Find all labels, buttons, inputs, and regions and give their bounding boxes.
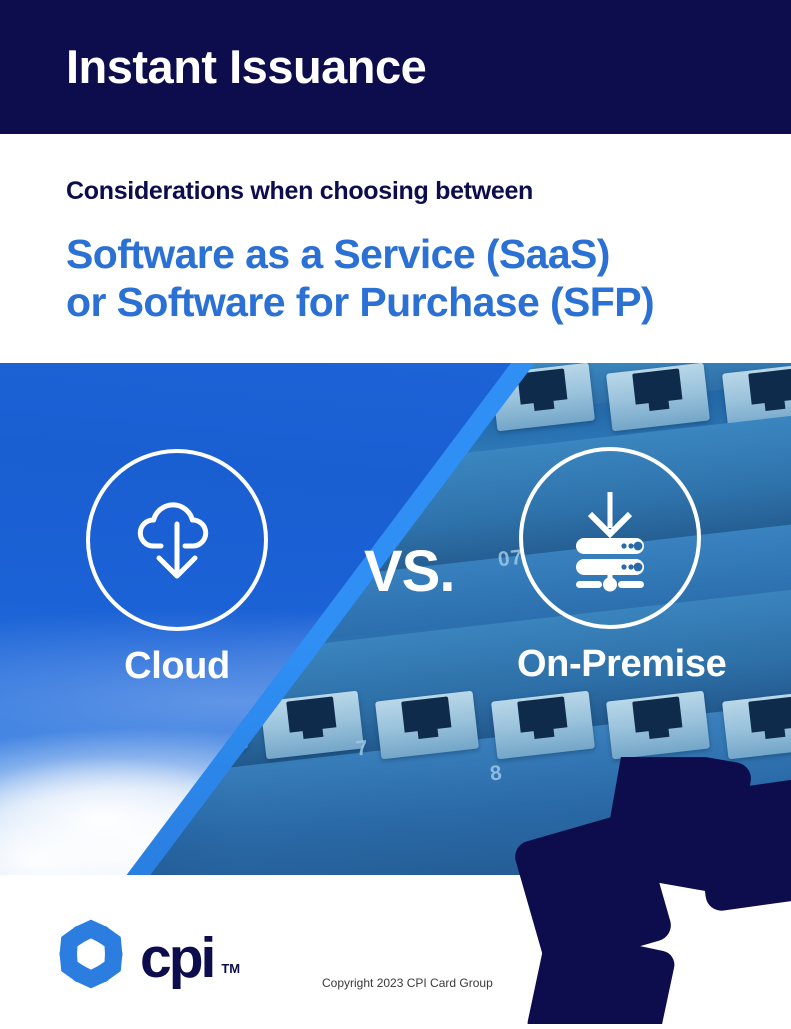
port-number-label: 7: [355, 736, 370, 761]
cpi-logo: cpi TM: [52, 915, 242, 993]
cloud-download-icon: [121, 484, 233, 596]
option-onpremise-caption: On-Premise: [517, 643, 701, 686]
option-cloud: Cloud: [86, 449, 268, 688]
title-block: Considerations when choosing between Sof…: [0, 134, 791, 363]
header-bar: Instant Issuance: [0, 0, 791, 134]
cpi-wordmark: cpi: [140, 930, 213, 987]
footer: cpi TM: [0, 875, 791, 1024]
versus-label: VS.: [364, 538, 455, 605]
trademark-symbol: TM: [221, 961, 240, 976]
subtitle-kicker: Considerations when choosing between: [66, 177, 533, 206]
option-onpremise: On-Premise: [519, 447, 701, 686]
copyright-text: Copyright 2023 CPI Card Group: [322, 976, 493, 990]
rj45-port-icon: [491, 690, 595, 759]
rj45-port-icon: [722, 690, 791, 759]
cloud-badge-ring: [86, 449, 268, 631]
rj45-port-icon: [375, 690, 479, 759]
rj45-port-icon: [606, 363, 710, 431]
server-download-icon: [552, 480, 668, 596]
page-title: Instant Issuance: [66, 43, 426, 90]
option-cloud-caption: Cloud: [86, 645, 268, 688]
hero-comparison-image: 05 06 07 6 7 8 Cloud VS: [0, 363, 791, 875]
onpremise-badge-ring: [519, 447, 701, 629]
main-headline: Software as a Service (SaaS) or Software…: [66, 230, 654, 327]
rj45-port-icon: [606, 690, 710, 759]
port-number-label: 8: [489, 762, 504, 787]
cpi-pinwheel-logo-icon: [52, 915, 130, 993]
